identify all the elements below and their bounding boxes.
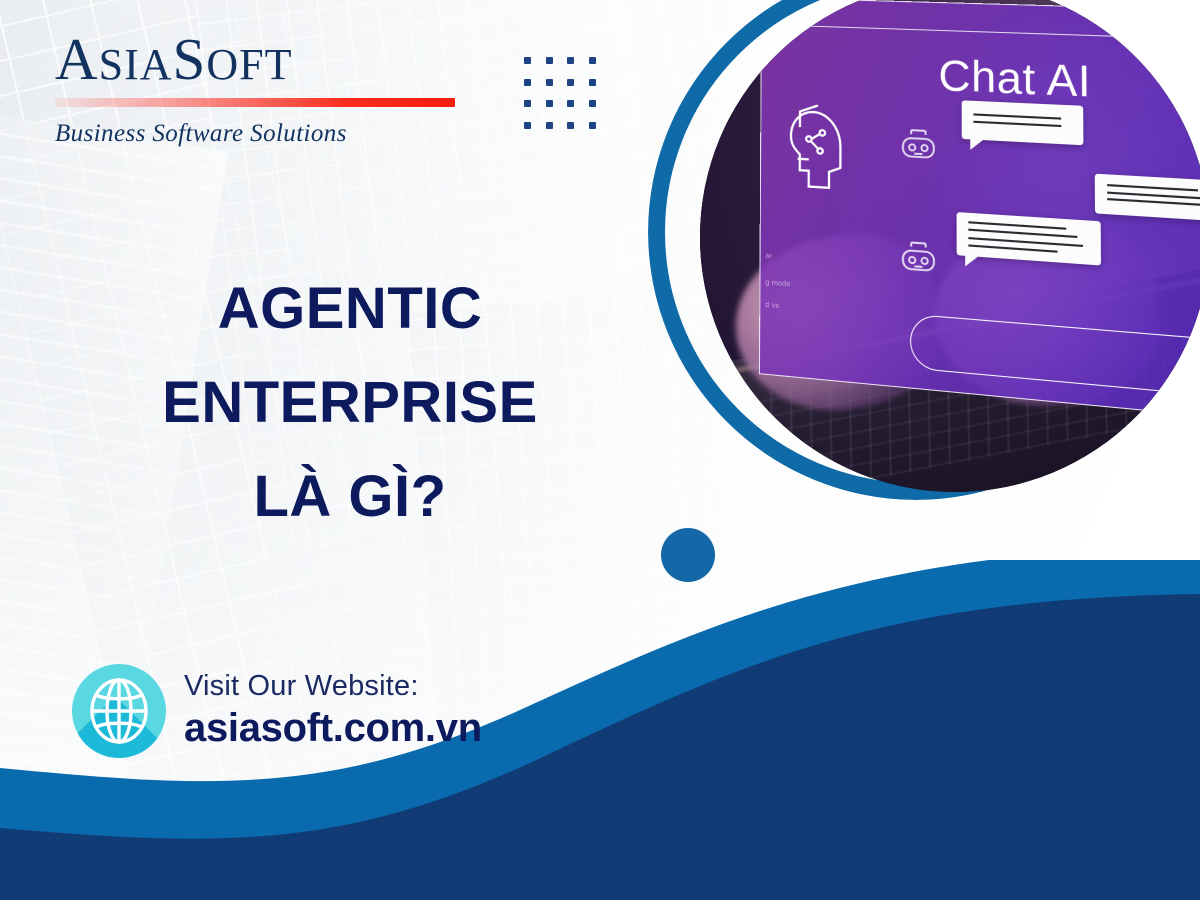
grid-dot — [524, 79, 531, 86]
grid-dot — [524, 57, 531, 64]
bot-icon — [895, 128, 941, 165]
grid-dot — [546, 122, 553, 129]
chat-bubble — [957, 212, 1101, 265]
bot-icon — [895, 239, 941, 277]
grid-dot — [524, 100, 531, 107]
footer-text-block: Visit Our Website: asiasoft.com.vn — [184, 671, 482, 751]
grid-dot — [567, 122, 574, 129]
headline-line-1: AGENTIC — [50, 262, 650, 356]
brand-tagline: Business Software Solutions — [55, 120, 475, 148]
panel-side-label: d vs — [765, 302, 779, 310]
grid-dot — [589, 79, 596, 86]
grid-dot — [567, 100, 574, 107]
brand-logo-wordmark: ASIASOFT — [55, 30, 475, 89]
website-url[interactable]: asiasoft.com.vn — [184, 705, 482, 751]
chat-bubble — [1095, 173, 1200, 221]
dot-grid-decoration — [524, 57, 610, 143]
grid-dot — [589, 100, 596, 107]
chat-ai-panel: Chat AI — [759, 0, 1200, 426]
grid-dot — [524, 122, 531, 129]
ai-head-icon — [776, 99, 860, 194]
headline-line-2: ENTERPRISE — [50, 356, 650, 450]
globe-icon-glyph — [86, 676, 152, 746]
chat-bubble — [962, 100, 1084, 145]
headline: AGENTIC ENTERPRISE LÀ GÌ? — [50, 262, 650, 544]
grid-dot — [546, 79, 553, 86]
grid-dot — [567, 57, 574, 64]
globe-icon — [72, 664, 166, 758]
headline-line-3: LÀ GÌ? — [50, 450, 650, 544]
grid-dot — [546, 100, 553, 107]
grid-dot — [567, 79, 574, 86]
promo-banner: ASIASOFT Business Software Solutions AGE… — [0, 0, 1200, 900]
footer-website-cta[interactable]: Visit Our Website: asiasoft.com.vn — [72, 664, 482, 758]
panel-side-label: ar — [766, 253, 773, 261]
panel-side-label: g mode — [765, 279, 790, 288]
brand-logo: ASIASOFT Business Software Solutions — [55, 30, 475, 148]
hero-photo-circle: Chat AI — [700, 0, 1200, 492]
grid-dot — [546, 57, 553, 64]
grid-dot — [589, 57, 596, 64]
visit-label: Visit Our Website: — [184, 671, 482, 703]
brand-logo-accent-rule — [55, 98, 455, 107]
grid-dot — [589, 122, 596, 129]
chat-input-bar[interactable] — [911, 314, 1200, 401]
